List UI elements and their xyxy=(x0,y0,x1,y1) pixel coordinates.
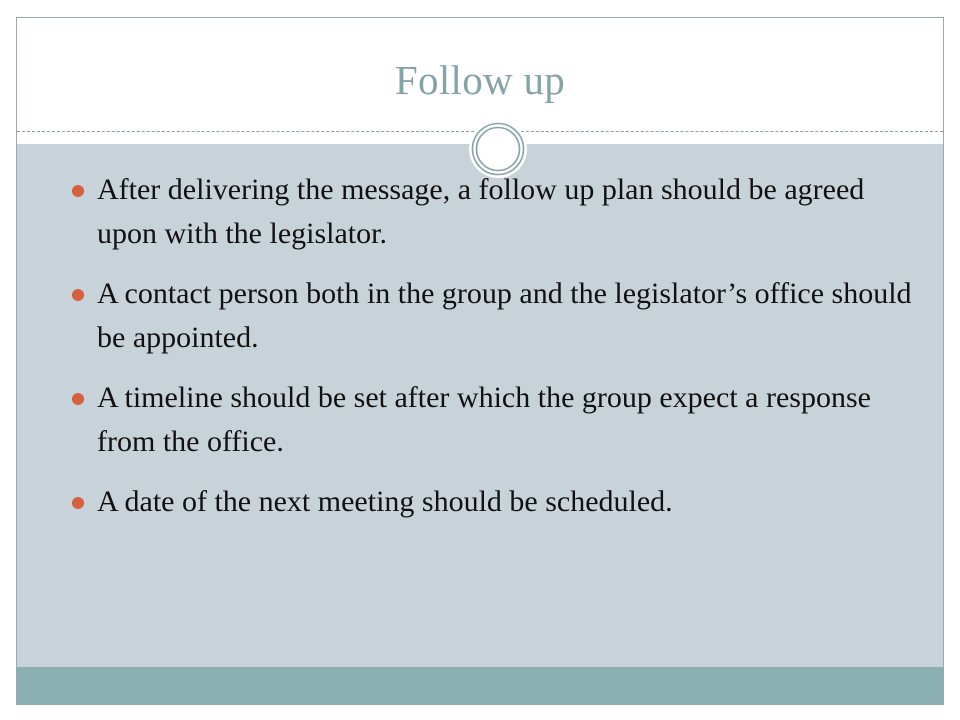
page-title: Follow up xyxy=(17,56,943,104)
list-item: A date of the next meeting should be sch… xyxy=(43,480,923,524)
slide-body-band: After delivering the message, a follow u… xyxy=(17,144,943,667)
double-ring-circle-icon xyxy=(465,116,531,182)
bullet-dot-icon xyxy=(72,497,84,509)
slide-footer-band xyxy=(17,667,943,704)
list-item: A timeline should be set after which the… xyxy=(43,376,923,464)
list-item-text: A contact person both in the group and t… xyxy=(97,272,923,360)
bullet-dot-icon xyxy=(72,289,84,301)
slide-canvas: Follow up After delivering the message, … xyxy=(0,0,960,720)
list-item-text: A date of the next meeting should be sch… xyxy=(97,480,923,524)
list-item-text: A timeline should be set after which the… xyxy=(97,376,923,464)
bullet-dot-icon xyxy=(72,185,84,197)
list-item: A contact person both in the group and t… xyxy=(43,272,923,360)
bullet-list: After delivering the message, a follow u… xyxy=(43,168,923,540)
bullet-dot-icon xyxy=(72,393,84,405)
presentation-slide: Follow up After delivering the message, … xyxy=(16,17,944,705)
